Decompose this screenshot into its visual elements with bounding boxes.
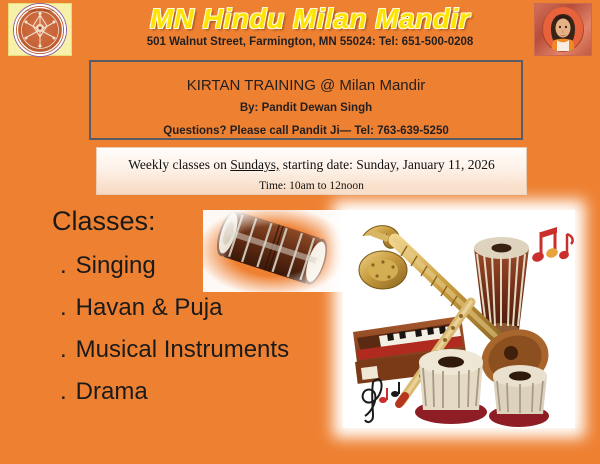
flyer-page: BHARAT SEVASHRAM MN Hindu Milan Mandir 5… (0, 0, 600, 464)
schedule-date-line: Weekly classes on Sundays, starting date… (97, 156, 526, 174)
schedule-time-line: Time: 10am to 12noon (97, 177, 526, 195)
guru-portrait-icon (542, 7, 584, 52)
dholak-drum-icon (203, 210, 343, 292)
class-label: Musical Instruments (76, 336, 289, 363)
temple-logo-badge: BHARAT SEVASHRAM (8, 3, 72, 56)
bullet-dot: . (60, 378, 67, 405)
bullet-dot: . (60, 294, 67, 321)
kirtan-title: KIRTAN TRAINING @ Milan Mandir (91, 76, 521, 96)
class-label: Singing (76, 252, 156, 279)
guru-portrait-frame (534, 3, 592, 56)
bullet-dot: . (60, 336, 67, 363)
temple-address: 501 Walnut Street, Farmington, MN 55024:… (100, 36, 520, 48)
schedule-day-underlined: Sundays, (230, 157, 279, 172)
indian-instruments-collage-icon (343, 210, 575, 428)
schedule-suffix: starting date: Sunday, January 11, 2026 (279, 157, 494, 172)
page-title: MN Hindu Milan Mandir (100, 4, 520, 34)
svg-text:BHARAT SEVASHRAM: BHARAT SEVASHRAM (24, 8, 56, 12)
schedule-box: Weekly classes on Sundays, starting date… (96, 147, 527, 195)
schedule-prefix: Weekly classes on (128, 157, 230, 172)
bullet-dot: . (60, 252, 67, 279)
class-label: Drama (76, 378, 148, 405)
list-item: .Havan & Puja (52, 294, 352, 322)
list-item: .Musical Instruments (52, 336, 352, 364)
list-item: .Drama (52, 378, 352, 406)
temple-emblem-icon: BHARAT SEVASHRAM (14, 4, 66, 56)
header-banner: BHARAT SEVASHRAM MN Hindu Milan Mandir 5… (0, 0, 600, 58)
class-label: Havan & Puja (76, 294, 223, 321)
kirtan-instructor: By: Pandit Dewan Singh (91, 98, 521, 118)
kirtan-training-box: KIRTAN TRAINING @ Milan Mandir By: Pandi… (89, 60, 523, 140)
kirtan-contact: Questions? Please call Pandit Ji— Tel: 7… (91, 121, 521, 141)
